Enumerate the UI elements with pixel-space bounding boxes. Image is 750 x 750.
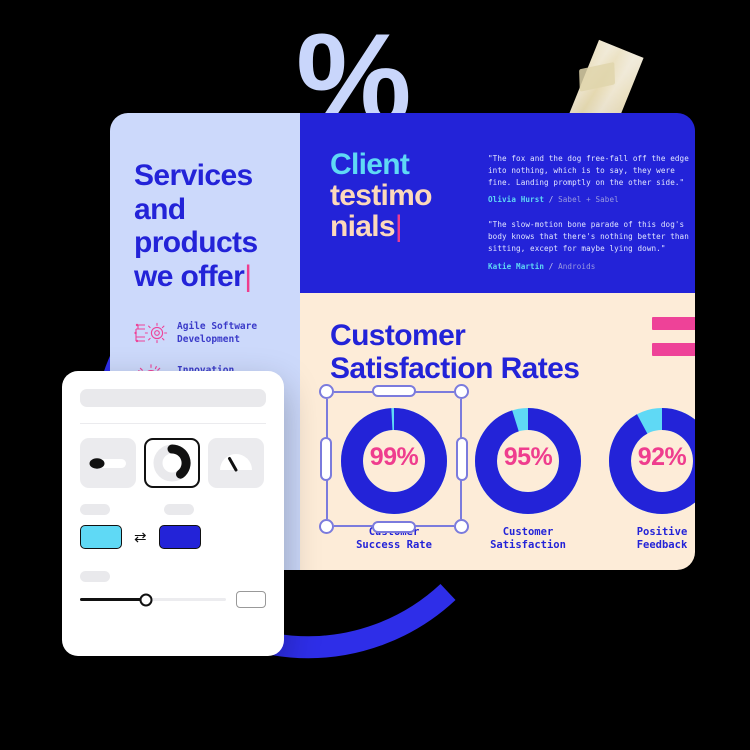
stats-title-line1: Customer [330, 319, 465, 352]
quote-text: "The slow-motion bone parade of this dog… [488, 219, 695, 254]
chart-type-selector [80, 438, 266, 488]
resize-handle-left-middle[interactable] [320, 437, 332, 481]
services-title-line1: Services [134, 159, 253, 192]
resize-handle-bottom-left[interactable] [319, 519, 334, 534]
panel-title-placeholder [80, 389, 266, 407]
poster-composition: % Services and products we offer| [0, 0, 750, 750]
resize-handle-top-middle[interactable] [372, 385, 416, 397]
circuit-gear-icon [134, 319, 168, 347]
gauge-icon [216, 451, 256, 475]
resize-handle-bottom-right[interactable] [454, 519, 469, 534]
donut-label-line1: Positive [637, 526, 688, 538]
donut-chart-type[interactable] [144, 438, 200, 488]
page-title: Customer Satisfaction Rates [330, 319, 695, 385]
divider [80, 423, 266, 424]
testimonials-heading-word2: testimo nials [330, 179, 432, 243]
donut-label-line2: Success Rate [356, 539, 432, 551]
color-labels-row [80, 504, 266, 515]
donut-label: Positive Feedback [606, 526, 695, 552]
stats-title-line2: Satisfaction Rates [330, 352, 579, 385]
quotes-list: "The fox and the dog free-fall off the e… [488, 149, 695, 293]
text-caret: | [395, 210, 402, 243]
donut-chart-customer-success-rate[interactable]: 99% Customer Success Rate [338, 405, 450, 552]
poster-right-column: Client testimo nials| "The fox and the d… [300, 113, 695, 570]
quote-author: Katie Martin [488, 262, 544, 271]
list-item: "The slow-motion bone parade of this dog… [488, 219, 695, 270]
list-item[interactable]: Agile Software Development [134, 319, 284, 347]
donut-icon [153, 444, 191, 482]
services-title-line4: we offer [134, 260, 244, 293]
resize-handle-top-left[interactable] [319, 384, 334, 399]
gauge-chart-type[interactable] [208, 438, 264, 488]
testimonials-heading: Client testimo nials| [330, 149, 470, 293]
secondary-color-swatch[interactable] [159, 525, 201, 549]
list-item-label: Agile Software Development [177, 319, 257, 345]
color-swatch-row: ⇄ [80, 525, 266, 549]
donut-label-line2: Feedback [637, 539, 688, 551]
services-title-line2: and [134, 193, 186, 226]
primary-color-swatch[interactable] [80, 525, 122, 549]
quote-org: Androids [558, 262, 595, 271]
list-item: "The fox and the dog free-fall off the e… [488, 153, 695, 204]
donut-chart-positive-feedback[interactable]: 92% Positive Feedback [606, 405, 695, 552]
selection-frame [326, 391, 462, 527]
donut-label-line2: Satisfaction [490, 539, 566, 551]
slider-section [80, 571, 266, 608]
accent-bar [652, 343, 695, 356]
slider-track[interactable] [80, 598, 226, 601]
resize-handle-bottom-middle[interactable] [372, 521, 416, 533]
slider-value-input[interactable] [236, 591, 266, 608]
progress-bar-chart-type[interactable] [80, 438, 136, 488]
donut-label-line1: Customer [503, 526, 554, 538]
donut-label: Customer Satisfaction [472, 526, 584, 552]
donut-chart-customer-satisfaction[interactable]: 95% Customer Satisfaction [472, 405, 584, 552]
quote-separator: / [549, 262, 554, 271]
color-label-placeholder-secondary [164, 504, 194, 515]
testimonials-section: Client testimo nials| "The fox and the d… [300, 113, 695, 293]
chart-settings-panel: ⇄ [62, 371, 284, 656]
quote-text: "The fox and the dog free-fall off the e… [488, 153, 695, 188]
accent-bar [652, 317, 695, 330]
donut-percent-value: 95% [472, 443, 584, 472]
resize-handle-top-right[interactable] [454, 384, 469, 399]
quote-author: Olivia Hurst [488, 195, 544, 204]
services-title: Services and products we offer| [134, 159, 284, 293]
satisfaction-stats-section: Customer Satisfaction Rates 99% Customer [300, 293, 695, 570]
donut-percent-value: 92% [606, 443, 695, 472]
tape-wrinkle [579, 62, 615, 92]
text-caret: | [244, 260, 251, 293]
services-title-line3: products [134, 226, 258, 259]
quote-separator: / [549, 195, 554, 204]
color-label-placeholder-primary [80, 504, 110, 515]
quote-attribution: Katie Martin / Androids [488, 262, 695, 271]
quote-org: Sabel + Sabel [558, 195, 619, 204]
testimonials-heading-word1: Client [330, 148, 409, 181]
progress-bar-icon [88, 453, 128, 473]
resize-handle-right-middle[interactable] [456, 437, 468, 481]
accent-bars-decoration [652, 317, 695, 356]
slider-fill [80, 598, 146, 601]
slider-row [80, 591, 266, 608]
quote-attribution: Olivia Hurst / Sabel + Sabel [488, 195, 695, 204]
swap-colors-icon[interactable]: ⇄ [134, 530, 147, 545]
donut-chart-group: 99% Customer Success Rate [330, 405, 695, 552]
slider-label-placeholder [80, 571, 110, 582]
slider-knob[interactable] [139, 593, 152, 606]
